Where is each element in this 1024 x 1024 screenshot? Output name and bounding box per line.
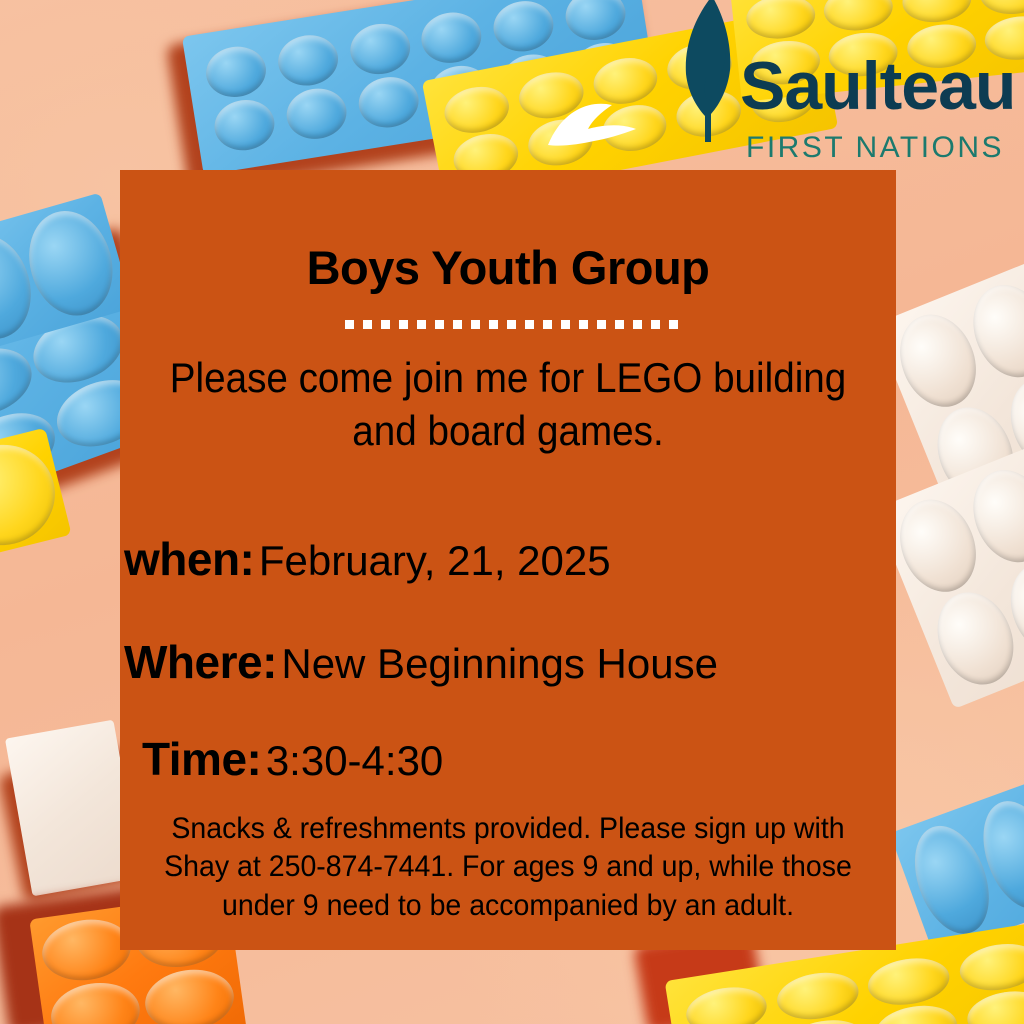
brick-stud xyxy=(47,977,144,1024)
detail-row-where: Where: New Beginnings House xyxy=(124,635,900,689)
poster-title: Boys Youth Group xyxy=(120,240,896,295)
detail-label-time: Time: xyxy=(142,733,261,785)
intro-text: Please come join me for LEGO building an… xyxy=(155,352,862,458)
detail-label-when: when: xyxy=(124,533,254,585)
brick-stud xyxy=(18,201,124,325)
white-feather-mark-icon xyxy=(540,95,650,155)
brick-stud xyxy=(865,953,953,1011)
brick-stud xyxy=(275,31,342,90)
detail-row-time: Time: 3:30-4:30 xyxy=(142,732,918,786)
detail-value-time: 3:30-4:30 xyxy=(266,737,443,784)
brick-stud xyxy=(211,95,278,154)
footer-text: Snacks & refreshments provided. Please s… xyxy=(158,810,857,925)
detail-value-when: February, 21, 2025 xyxy=(259,537,611,584)
content-panel: Boys Youth Group Please come join me for… xyxy=(120,170,896,950)
brick-stud xyxy=(490,0,557,56)
detail-row-when: when: February, 21, 2025 xyxy=(124,532,900,586)
logo-tagline: FIRST NATIONS xyxy=(746,133,1004,163)
detail-value-where: New Beginnings House xyxy=(281,640,718,687)
brick-stud xyxy=(203,43,270,102)
brick-stud xyxy=(441,82,513,139)
brick-stud xyxy=(562,0,629,45)
brick-stud xyxy=(956,938,1024,996)
brick-stud xyxy=(418,9,485,68)
feather-icon xyxy=(672,0,744,142)
brick-stud xyxy=(774,967,862,1024)
poster: Saulteau FIRST NATIONS Boys Youth Group … xyxy=(0,0,1024,1024)
detail-label-where: Where: xyxy=(124,636,277,688)
logo-wordmark: Saulteau xyxy=(740,52,1015,120)
saulteau-first-nations-logo: Saulteau FIRST NATIONS xyxy=(660,0,1024,175)
brick-stud xyxy=(346,20,413,79)
brick-stud xyxy=(873,1000,961,1024)
dotted-divider xyxy=(345,320,679,329)
brick-stud xyxy=(141,964,238,1024)
brick-stud xyxy=(964,986,1024,1024)
brick-stud xyxy=(355,73,422,132)
brick-stud xyxy=(283,84,350,143)
brick-stud xyxy=(924,581,1024,696)
brick-stud xyxy=(682,981,770,1024)
